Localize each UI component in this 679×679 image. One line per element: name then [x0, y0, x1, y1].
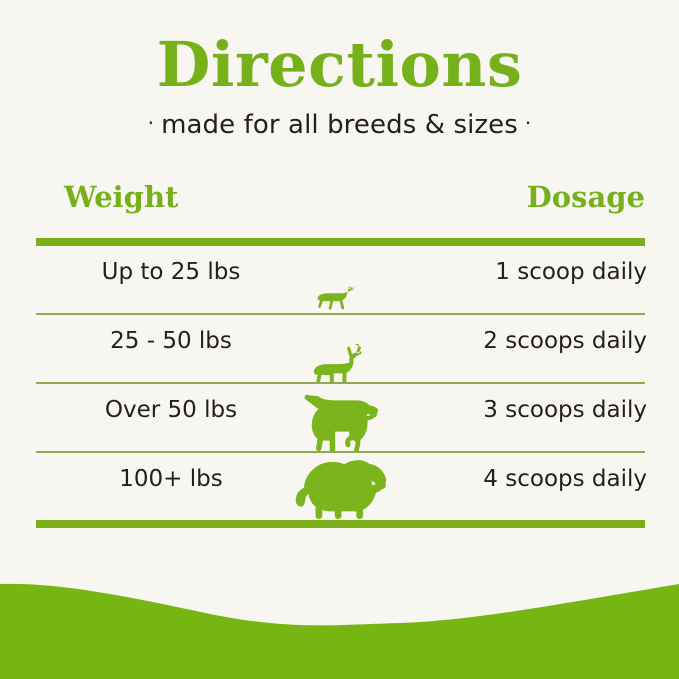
large-breed-silhouette-icon — [293, 460, 389, 520]
page-subtitle: ·made for all breeds & sizes· — [0, 96, 679, 140]
column-header-dosage: Dosage — [527, 180, 645, 214]
table-row: 100+ lbs 4 scoops daily — [36, 453, 645, 520]
dachshund-silhouette-icon — [315, 286, 367, 313]
cell-weight: 25 - 50 lbs — [36, 327, 306, 355]
cell-dosage: 3 scoops daily — [483, 396, 647, 424]
directions-infographic: Directions ·made for all breeds & sizes·… — [0, 0, 679, 679]
column-header-weight: Weight — [64, 180, 178, 214]
cell-weight: 100+ lbs — [36, 465, 306, 493]
subtitle-text: made for all breeds & sizes — [161, 110, 518, 140]
corgi-silhouette-icon — [311, 344, 371, 382]
cell-weight: Up to 25 lbs — [36, 258, 306, 286]
table-row: Over 50 lbs 3 scoops daily — [36, 384, 645, 451]
table-row: Up to 25 lbs 1 scoop daily — [36, 246, 645, 313]
table-top-rule — [36, 238, 645, 246]
table-bottom-rule — [36, 520, 645, 528]
dosage-table: Up to 25 lbs 1 scoop daily 25 - 50 lbs 2… — [36, 238, 645, 528]
cell-dosage: 2 scoops daily — [483, 327, 647, 355]
pointer-silhouette-icon — [302, 393, 380, 452]
table-row: 25 - 50 lbs 2 scoops daily — [36, 315, 645, 382]
cell-dosage: 4 scoops daily — [483, 465, 647, 493]
header: Directions ·made for all breeds & sizes· — [0, 0, 679, 140]
cell-weight: Over 50 lbs — [36, 396, 306, 424]
page-title: Directions — [0, 0, 679, 96]
bottom-wave-decoration — [0, 559, 679, 679]
bullet-right-icon: · — [518, 111, 538, 135]
cell-dosage: 1 scoop daily — [495, 258, 647, 286]
bullet-left-icon: · — [141, 111, 161, 135]
table-column-headers: Weight Dosage — [36, 180, 645, 226]
